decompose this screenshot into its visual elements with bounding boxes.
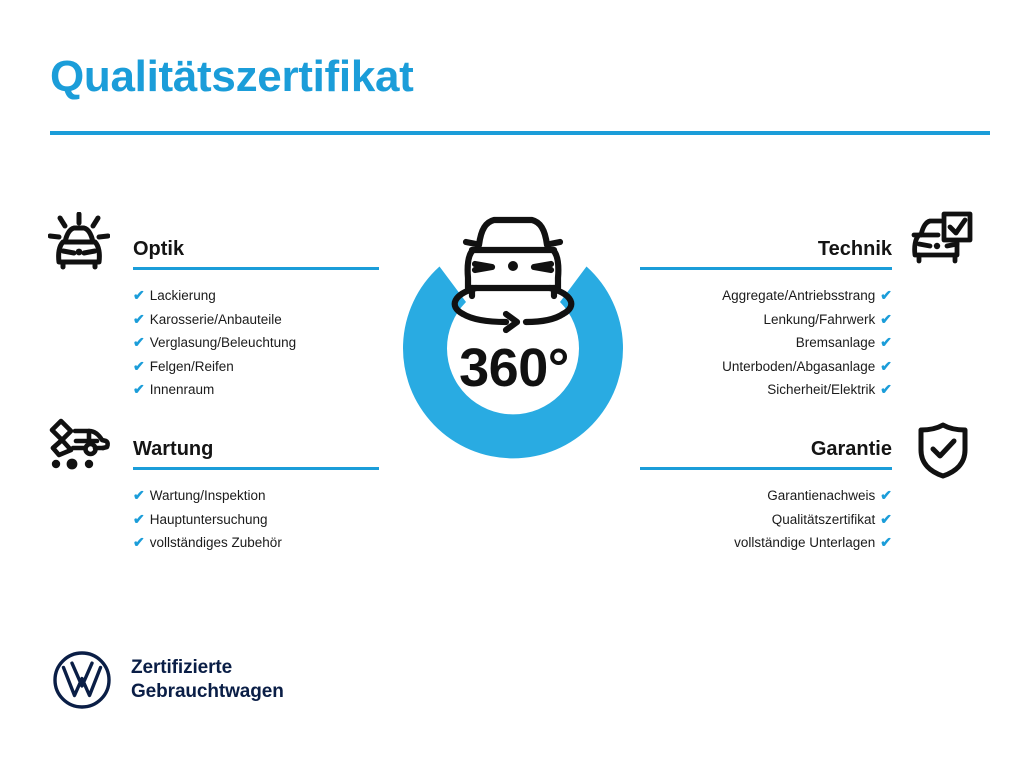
- list-item-label: Verglasung/Beleuchtung: [150, 335, 296, 350]
- check-icon: ✔: [133, 311, 145, 327]
- list-item-label: Garantienachweis: [767, 488, 875, 503]
- list-item-label: vollständige Unterlagen: [734, 535, 875, 550]
- list-item: ✔Felgen/Reifen: [133, 355, 379, 379]
- list-item: Bremsanlage✔: [640, 331, 892, 355]
- list-item-label: vollständiges Zubehör: [150, 535, 282, 550]
- list-item-label: Lackierung: [150, 288, 216, 303]
- list-item: vollständige Unterlagen✔: [640, 531, 892, 555]
- footer-wordmark-line1: Zertifizierte: [131, 656, 284, 680]
- checklist-garantie: Garantienachweis✔ Qualitätszertifikat✔ v…: [640, 484, 892, 555]
- check-icon: ✔: [133, 358, 145, 374]
- list-item: Lenkung/Fahrwerk✔: [640, 308, 892, 332]
- check-icon: ✔: [880, 358, 892, 374]
- check-icon: ✔: [880, 287, 892, 303]
- list-item: Garantienachweis✔: [640, 484, 892, 508]
- section-underline-garantie: [640, 467, 892, 470]
- section-heading-wartung: Wartung: [133, 436, 379, 462]
- section-heading-optik: Optik: [133, 236, 379, 262]
- list-item: ✔Karosserie/Anbauteile: [133, 308, 379, 332]
- section-underline-wartung: [133, 467, 379, 470]
- section-underline-technik: [640, 267, 892, 270]
- section-underline-optik: [133, 267, 379, 270]
- list-item-label: Hauptuntersuchung: [150, 512, 268, 527]
- badge-graphic: Gebrauchtwagen-Check 360°: [368, 200, 658, 500]
- check-icon: ✔: [133, 487, 145, 503]
- checklist-optik: ✔Lackierung ✔Karosserie/Anbauteile ✔Verg…: [133, 284, 379, 402]
- section-optik: Optik ✔Lackierung ✔Karosserie/Anbauteile…: [133, 236, 379, 402]
- 360-gebrauchtwagen-check-badge: Gebrauchtwagen-Check 360°: [368, 200, 658, 500]
- list-item: ✔Verglasung/Beleuchtung: [133, 331, 379, 355]
- list-item: ✔Wartung/Inspektion: [133, 484, 379, 508]
- check-icon: ✔: [880, 311, 892, 327]
- check-icon: ✔: [133, 334, 145, 350]
- section-heading-technik: Technik: [640, 236, 892, 262]
- list-item-label: Lenkung/Fahrwerk: [763, 312, 875, 327]
- list-item-label: Felgen/Reifen: [150, 359, 234, 374]
- shield-check-icon: [916, 421, 970, 484]
- certificate-page: Qualitätszertifikat Gebrauchtwagen-Check…: [0, 0, 1024, 768]
- check-icon: ✔: [880, 334, 892, 350]
- section-wartung: Wartung ✔Wartung/Inspektion ✔Hauptunters…: [133, 436, 379, 555]
- check-icon: ✔: [133, 511, 145, 527]
- list-item: Unterboden/Abgasanlage✔: [640, 355, 892, 379]
- title-divider: [50, 131, 990, 135]
- list-item: Sicherheit/Elektrik✔: [640, 378, 892, 402]
- list-item-label: Unterboden/Abgasanlage: [722, 359, 875, 374]
- vw-roundel-logo: [52, 650, 112, 710]
- check-icon: ✔: [133, 287, 145, 303]
- list-item: ✔vollständiges Zubehör: [133, 531, 379, 555]
- badge-center-label: 360°: [459, 338, 569, 398]
- checklist-technik: Aggregate/Antriebsstrang✔ Lenkung/Fahrwe…: [640, 284, 892, 402]
- list-item-label: Qualitätszertifikat: [772, 512, 876, 527]
- check-icon: ✔: [880, 534, 892, 550]
- check-icon: ✔: [133, 381, 145, 397]
- car-checkbox-icon: [911, 211, 973, 272]
- section-heading-garantie: Garantie: [640, 436, 892, 462]
- car-shine-icon: [48, 212, 110, 275]
- check-icon: ✔: [880, 487, 892, 503]
- section-technik: Technik Aggregate/Antriebsstrang✔ Lenkun…: [640, 236, 892, 402]
- checklist-wartung: ✔Wartung/Inspektion ✔Hauptuntersuchung ✔…: [133, 484, 379, 555]
- list-item-label: Aggregate/Antriebsstrang: [722, 288, 875, 303]
- list-item-label: Karosserie/Anbauteile: [150, 312, 282, 327]
- list-item: Qualitätszertifikat✔: [640, 508, 892, 532]
- list-item: ✔Lackierung: [133, 284, 379, 308]
- footer-wordmark: Zertifizierte Gebrauchtwagen: [131, 656, 284, 704]
- list-item-label: Sicherheit/Elektrik: [767, 382, 875, 397]
- car-rotation-icon: [455, 220, 572, 330]
- page-title: Qualitätszertifikat: [50, 52, 414, 102]
- check-icon: ✔: [133, 534, 145, 550]
- section-garantie: Garantie Garantienachweis✔ Qualitätszert…: [640, 436, 892, 555]
- list-item-label: Innenraum: [150, 382, 215, 397]
- list-item: Aggregate/Antriebsstrang✔: [640, 284, 892, 308]
- footer-brand: Zertifizierte Gebrauchtwagen: [52, 650, 284, 710]
- list-item-label: Bremsanlage: [796, 335, 876, 350]
- list-item-label: Wartung/Inspektion: [150, 488, 266, 503]
- check-icon: ✔: [880, 511, 892, 527]
- list-item: ✔Innenraum: [133, 378, 379, 402]
- list-item: ✔Hauptuntersuchung: [133, 508, 379, 532]
- check-icon: ✔: [880, 381, 892, 397]
- service-book-pen-car-icon: [45, 417, 111, 476]
- footer-wordmark-line2: Gebrauchtwagen: [131, 680, 284, 704]
